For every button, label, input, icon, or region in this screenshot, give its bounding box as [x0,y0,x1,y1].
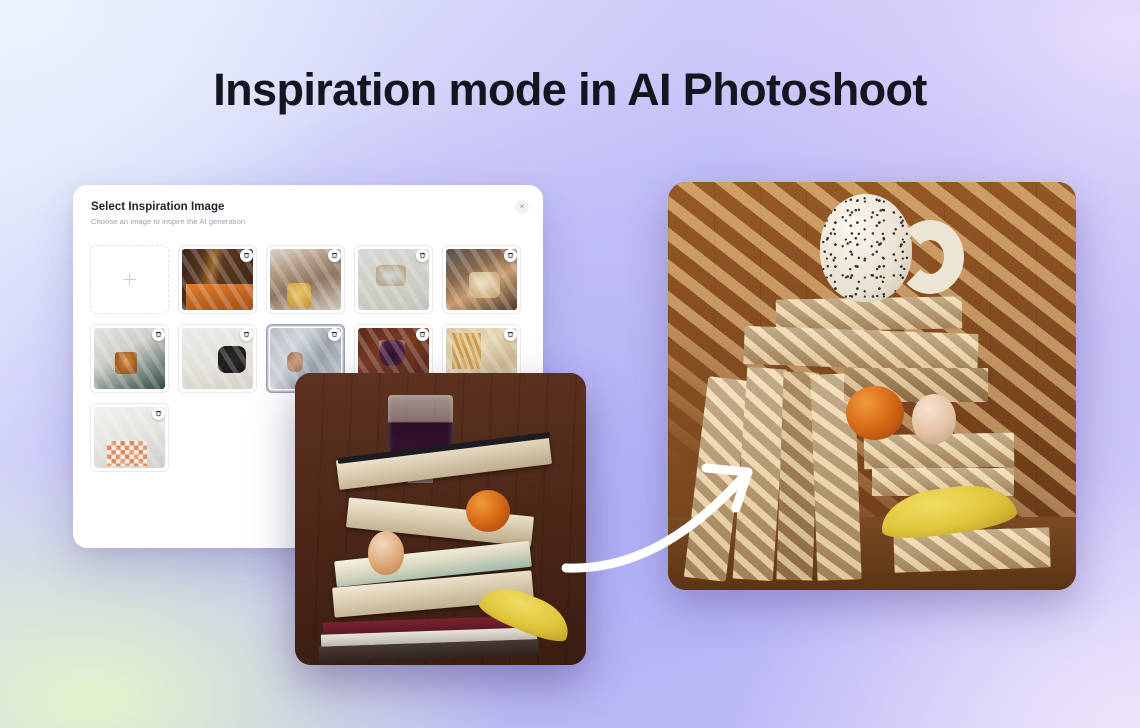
trash-icon[interactable] [240,328,253,341]
egg [912,394,956,444]
dialog-subtitle: Choose an image to inspire the AI genera… [91,217,525,226]
dialog-header: Select Inspiration Image Choose an image… [73,185,543,226]
flow-arrow [560,430,790,590]
add-image-tile[interactable] [90,245,169,314]
inspiration-scene [295,373,586,665]
stacked-book-top-2 [743,326,978,372]
trash-icon[interactable] [152,328,165,341]
thumbnail-table[interactable] [266,245,345,314]
egg [368,531,404,575]
orange-fruit [846,386,904,440]
mug-handle [896,220,964,294]
inspiration-photo[interactable] [295,373,586,665]
orange-fruit [466,490,510,532]
thumbnail-gray[interactable] [354,245,433,314]
trash-icon[interactable] [504,249,517,262]
plus-icon [123,273,136,286]
trash-icon[interactable] [416,249,429,262]
trash-icon[interactable] [240,249,253,262]
close-icon[interactable]: × [515,200,529,214]
thumbnail-cafe[interactable] [178,245,257,314]
page-root: Inspiration mode in AI Photoshoot Select… [0,0,1140,728]
thumbnail-hands[interactable] [442,245,521,314]
trash-icon[interactable] [328,328,341,341]
trash-icon[interactable] [328,249,341,262]
thumbnail-kitchen[interactable] [90,403,169,472]
dialog-title: Select Inspiration Image [91,201,525,213]
page-title: Inspiration mode in AI Photoshoot [0,64,1140,116]
trash-icon[interactable] [152,407,165,420]
thumbnail-candle[interactable] [90,324,169,393]
shadow-stripes [743,326,978,372]
trash-icon[interactable] [416,328,429,341]
trash-icon[interactable] [504,328,517,341]
thumbnail-cups[interactable] [178,324,257,393]
